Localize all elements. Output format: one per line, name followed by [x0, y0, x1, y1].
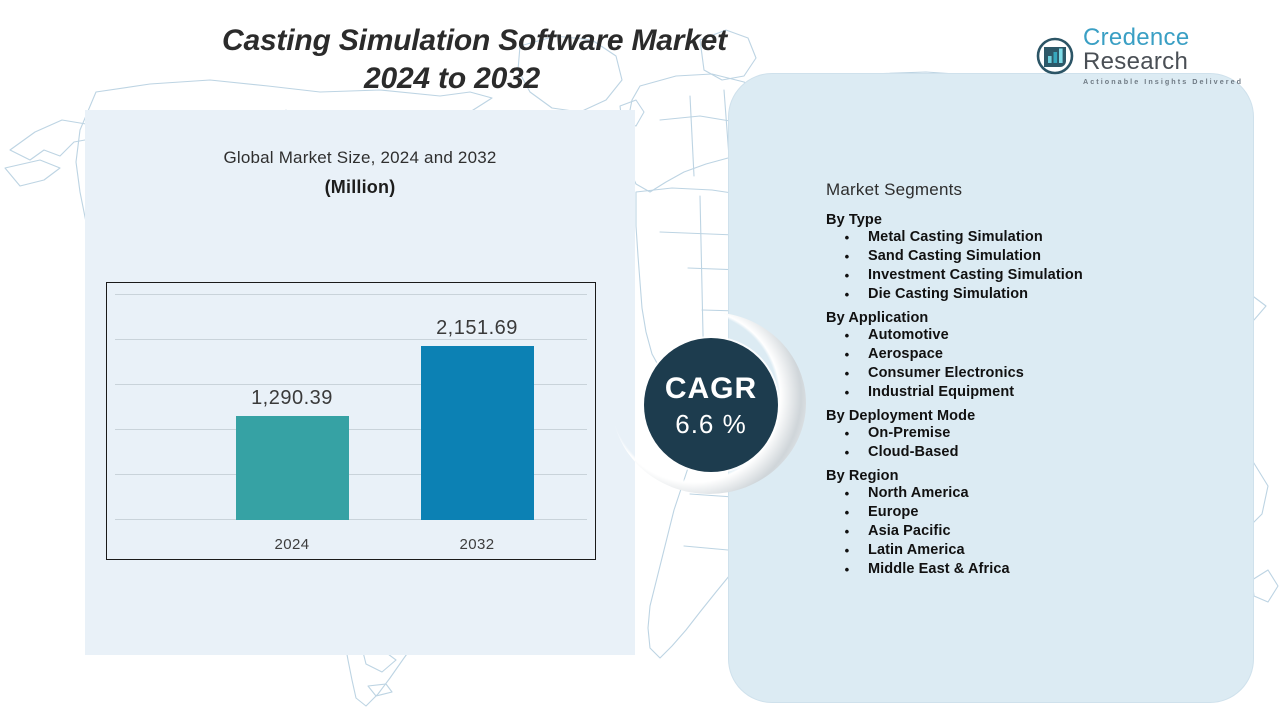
segment-item-label: Aerospace: [868, 345, 943, 364]
segment-item-label: Consumer Electronics: [868, 364, 1024, 383]
segment-item-label: North America: [868, 484, 969, 503]
bar-2032: [421, 346, 534, 520]
logo-name-part2: Research: [1083, 48, 1188, 75]
segment-list-item: •Automotive: [826, 326, 1226, 345]
bullet-icon: •: [826, 503, 868, 522]
page-title: Casting Simulation Software Market 2024 …: [222, 22, 842, 98]
segment-item-label: Cloud-Based: [868, 443, 959, 462]
segment-item-label: Middle East & Africa: [868, 560, 1010, 579]
segment-list-item: •Metal Casting Simulation: [826, 228, 1226, 247]
bullet-icon: •: [826, 484, 868, 503]
logo-tagline: Actionable Insights Delivered: [1083, 78, 1280, 85]
bar-value-label-2032: 2,151.69: [397, 317, 557, 340]
segment-list-item: •North America: [826, 484, 1226, 503]
segment-item-label: Sand Casting Simulation: [868, 247, 1041, 266]
segment-item-label: Industrial Equipment: [868, 383, 1014, 402]
chart-title: Global Market Size, 2024 and 2032: [110, 148, 610, 168]
segment-list-item: •Die Casting Simulation: [826, 285, 1226, 304]
bullet-icon: •: [826, 541, 868, 560]
cagr-value: 6.6 %: [675, 411, 747, 437]
segment-list-item: •Aerospace: [826, 345, 1226, 364]
segment-item-label: Latin America: [868, 541, 965, 560]
market-segments: Market Segments By Type•Metal Casting Si…: [826, 180, 1226, 579]
segment-list-item: •Investment Casting Simulation: [826, 266, 1226, 285]
chart-unit-label: (Million): [110, 177, 610, 198]
segment-list-item: •Sand Casting Simulation: [826, 247, 1226, 266]
bar-chart-plot: 1,290.3920242,151.692032: [106, 282, 596, 560]
segment-group-title: By Application: [826, 310, 1226, 326]
bullet-icon: •: [826, 383, 868, 402]
segment-item-label: Metal Casting Simulation: [868, 228, 1043, 247]
brand-logo: Credence Research Actionable Insights De…: [1036, 26, 1280, 85]
bullet-icon: •: [826, 424, 868, 443]
logo-name-part1: Credence: [1083, 24, 1189, 51]
bullet-icon: •: [826, 266, 868, 285]
bar-2024: [236, 416, 349, 520]
bullet-icon: •: [826, 560, 868, 579]
bullet-icon: •: [826, 228, 868, 247]
logo-name: Credence Research: [1083, 26, 1280, 74]
category-label-2024: 2024: [232, 536, 352, 553]
segment-list-item: •Cloud-Based: [826, 443, 1226, 462]
bullet-icon: •: [826, 443, 868, 462]
bar-value-label-2024: 1,290.39: [212, 387, 372, 410]
segment-list-item: •Latin America: [826, 541, 1226, 560]
segment-item-label: Automotive: [868, 326, 949, 345]
segment-group-title: By Type: [826, 212, 1226, 228]
logo-text: Credence Research Actionable Insights De…: [1083, 26, 1280, 85]
category-label-2032: 2032: [417, 536, 537, 553]
segment-list-item: •Europe: [826, 503, 1226, 522]
bar-chart-circle-icon: [1036, 37, 1074, 75]
bullet-icon: •: [826, 522, 868, 541]
bullet-icon: •: [826, 345, 868, 364]
segment-item-label: On-Premise: [868, 424, 950, 443]
segments-heading: Market Segments: [826, 180, 1226, 200]
bullet-icon: •: [826, 364, 868, 383]
segment-item-label: Die Casting Simulation: [868, 285, 1028, 304]
segments-list: By Type•Metal Casting Simulation•Sand Ca…: [826, 212, 1226, 579]
segment-item-label: Asia Pacific: [868, 522, 951, 541]
cagr-label: CAGR: [665, 374, 757, 404]
segment-list-item: •Industrial Equipment: [826, 383, 1226, 402]
cagr-badge: CAGR 6.6 %: [612, 312, 806, 494]
segment-group-title: By Region: [826, 468, 1226, 484]
gridline: [115, 294, 587, 295]
title-line-1: Casting Simulation Software Market: [222, 24, 727, 57]
bullet-icon: •: [826, 247, 868, 266]
segment-group-title: By Deployment Mode: [826, 408, 1226, 424]
segment-list-item: •Consumer Electronics: [826, 364, 1226, 383]
segment-list-item: •On-Premise: [826, 424, 1226, 443]
title-line-2: 2024 to 2032: [222, 60, 682, 98]
chart-heading: Global Market Size, 2024 and 2032 (Milli…: [110, 148, 610, 198]
segment-list-item: •Middle East & Africa: [826, 560, 1226, 579]
segment-item-label: Investment Casting Simulation: [868, 266, 1083, 285]
cagr-circle: CAGR 6.6 %: [644, 338, 778, 472]
bullet-icon: •: [826, 326, 868, 345]
segment-item-label: Europe: [868, 503, 919, 522]
segment-list-item: •Asia Pacific: [826, 522, 1226, 541]
bullet-icon: •: [826, 285, 868, 304]
